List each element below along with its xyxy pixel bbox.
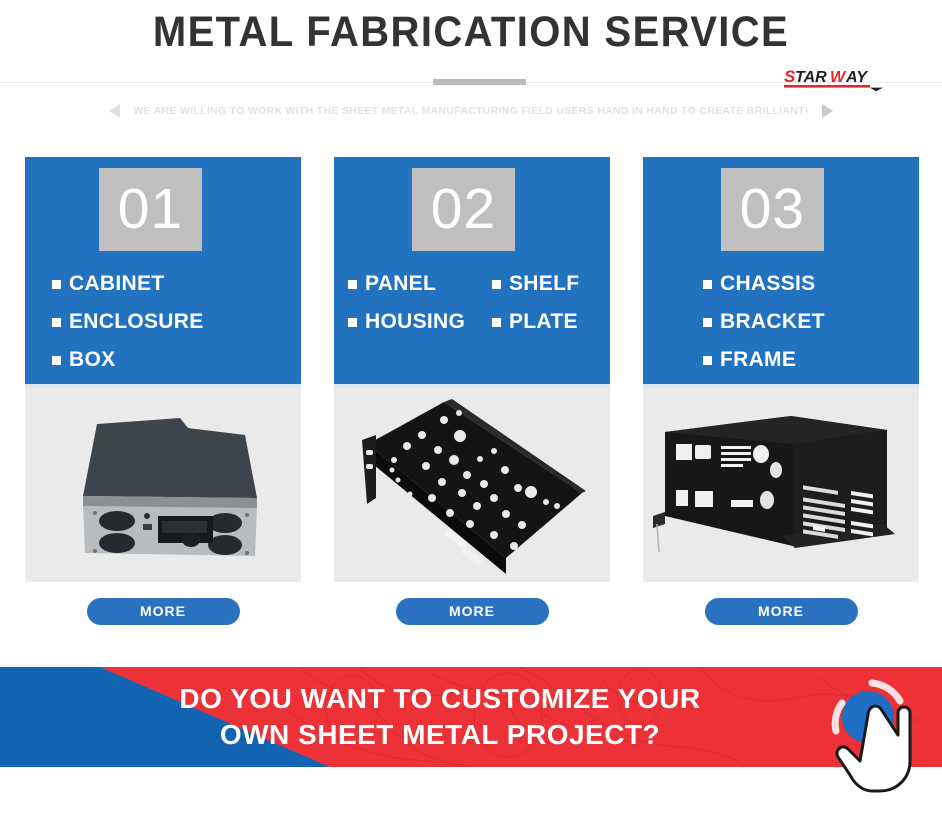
card-number: 02 bbox=[431, 181, 496, 238]
service-cards: 01 CABINET ENCLOSURE bbox=[0, 157, 942, 632]
divider-accent bbox=[433, 79, 526, 85]
card-number-badge: 02 bbox=[412, 168, 515, 251]
starway-logo[interactable]: S TAR W AY bbox=[784, 66, 914, 92]
bullet-square-icon bbox=[492, 318, 501, 327]
list-item: PANEL bbox=[348, 265, 470, 303]
list-item: PLATE bbox=[492, 303, 578, 341]
bullet-square-icon bbox=[52, 280, 61, 289]
card-number-badge: 03 bbox=[721, 168, 824, 251]
list-item: HOUSING bbox=[348, 303, 470, 341]
card-header: 03 CHASSIS BRACKET bbox=[643, 157, 919, 384]
bullet-row: CABINET bbox=[52, 265, 291, 303]
svg-text:AY: AY bbox=[845, 69, 868, 86]
card-photo bbox=[334, 388, 610, 582]
card-photo bbox=[643, 388, 919, 582]
bullet-label: BOX bbox=[69, 348, 115, 372]
more-button[interactable]: MORE bbox=[705, 598, 858, 625]
bullet-row: FRAME bbox=[703, 341, 909, 379]
list-item: BRACKET bbox=[703, 303, 825, 341]
service-card[interactable]: 03 CHASSIS BRACKET bbox=[643, 157, 919, 632]
page-header: METAL FABRICATION SERVICE S TAR W AY WE … bbox=[0, 0, 942, 140]
list-item: CABINET bbox=[52, 265, 164, 303]
bullet-label: PLATE bbox=[509, 310, 578, 334]
more-button[interactable]: MORE bbox=[87, 598, 240, 625]
card-actions: MORE bbox=[25, 582, 301, 632]
bullet-label: ENCLOSURE bbox=[69, 310, 204, 334]
marquee-strip: WE ARE WILLING TO WORK WITH THE SHEET ME… bbox=[0, 100, 942, 122]
cta-line-2: OWN SHEET METAL PROJECT? bbox=[150, 717, 730, 753]
bullet-square-icon bbox=[703, 318, 712, 327]
bullet-row: HOUSING PLATE bbox=[348, 303, 600, 341]
list-item: CHASSIS bbox=[703, 265, 815, 303]
bullet-square-icon bbox=[492, 280, 501, 289]
more-button[interactable]: MORE bbox=[396, 598, 549, 625]
bullet-label: SHELF bbox=[509, 272, 579, 296]
list-item: SHELF bbox=[492, 265, 579, 303]
service-card[interactable]: 01 CABINET ENCLOSURE bbox=[25, 157, 301, 632]
list-item: FRAME bbox=[703, 341, 796, 379]
card-header: 01 CABINET ENCLOSURE bbox=[25, 157, 301, 384]
bullet-row: BOX bbox=[52, 341, 291, 379]
card-number: 03 bbox=[740, 181, 805, 238]
left-triangle-icon[interactable] bbox=[109, 104, 120, 118]
bullet-square-icon bbox=[703, 356, 712, 365]
bullet-square-icon bbox=[348, 280, 357, 289]
bullet-row: ENCLOSURE bbox=[52, 303, 291, 341]
bullet-label: HOUSING bbox=[365, 310, 465, 334]
bullet-label: CHASSIS bbox=[720, 272, 815, 296]
bullet-label: CABINET bbox=[69, 272, 164, 296]
list-item: BOX bbox=[52, 341, 115, 379]
page-root: METAL FABRICATION SERVICE S TAR W AY WE … bbox=[0, 0, 942, 823]
bullet-label: FRAME bbox=[720, 348, 796, 372]
bullet-label: PANEL bbox=[365, 272, 436, 296]
bullet-square-icon bbox=[52, 318, 61, 327]
cta-text: DO YOU WANT TO CUSTOMIZE YOUR OWN SHEET … bbox=[150, 681, 730, 753]
bullet-label: BRACKET bbox=[720, 310, 825, 334]
bullet-square-icon bbox=[52, 356, 61, 365]
bullet-square-icon bbox=[703, 280, 712, 289]
list-item: ENCLOSURE bbox=[52, 303, 204, 341]
card-actions: MORE bbox=[643, 582, 919, 632]
bullet-square-icon bbox=[348, 318, 357, 327]
card-bullet-list: CHASSIS BRACKET FRAME bbox=[643, 265, 919, 379]
svg-text:TAR: TAR bbox=[795, 69, 827, 86]
card-header: 02 PANEL SHELF bbox=[334, 157, 610, 384]
bullet-row: BRACKET bbox=[703, 303, 909, 341]
cta-line-1: DO YOU WANT TO CUSTOMIZE YOUR bbox=[150, 681, 730, 717]
service-card[interactable]: 02 PANEL SHELF bbox=[334, 157, 610, 632]
marquee-text: WE ARE WILLING TO WORK WITH THE SHEET ME… bbox=[133, 105, 808, 117]
card-bullet-list: PANEL SHELF HOUSING bbox=[334, 265, 610, 341]
svg-text:W: W bbox=[830, 69, 847, 86]
card-number: 01 bbox=[118, 181, 183, 238]
bullet-row: CHASSIS bbox=[703, 265, 909, 303]
card-actions: MORE bbox=[334, 582, 610, 632]
cta-banner[interactable]: DO YOU WANT TO CUSTOMIZE YOUR OWN SHEET … bbox=[0, 667, 942, 767]
tap-hand-click-icon[interactable] bbox=[828, 679, 924, 797]
card-bullet-list: CABINET ENCLOSURE BOX bbox=[25, 265, 301, 379]
bullet-row: PANEL SHELF bbox=[348, 265, 600, 303]
card-number-badge: 01 bbox=[99, 168, 202, 251]
card-photo bbox=[25, 388, 301, 582]
right-triangle-icon[interactable] bbox=[822, 104, 833, 118]
page-title: METAL FABRICATION SERVICE bbox=[33, 8, 909, 57]
